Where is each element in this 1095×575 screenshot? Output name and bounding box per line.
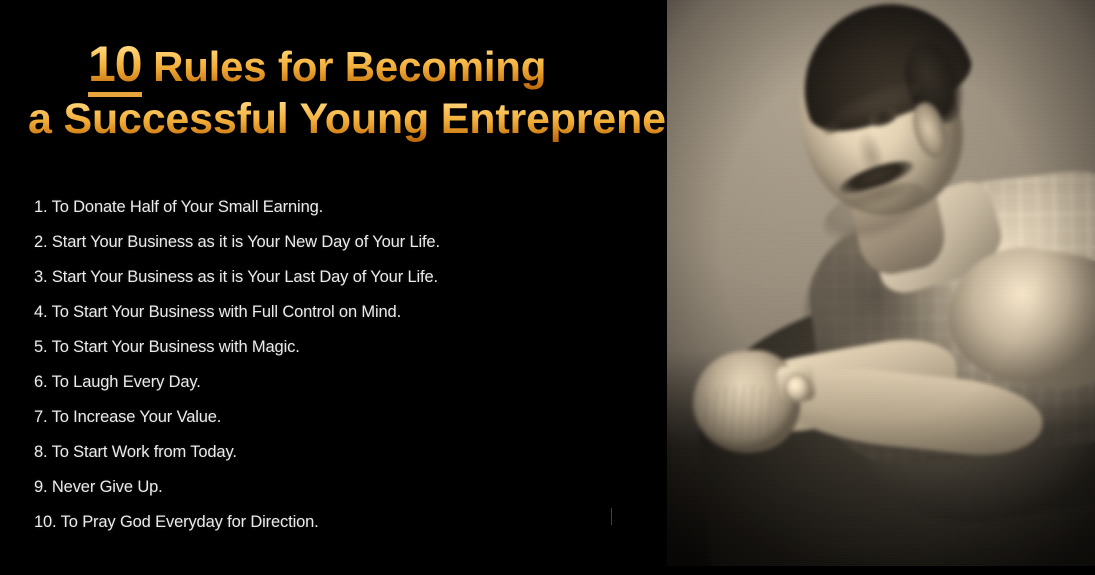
rule-number: 2.	[34, 233, 47, 251]
rule-text: Start Your Business as it is Your New Da…	[52, 233, 440, 251]
rule-text: To Start Your Business with Full Control…	[52, 303, 401, 321]
list-item: 10. To Pray God Everyday for Direction.	[0, 505, 667, 540]
list-item: 4. To Start Your Business with Full Cont…	[0, 295, 667, 330]
list-item: 8. To Start Work from Today.	[0, 435, 667, 470]
list-item: 7. To Increase Your Value.	[0, 400, 667, 435]
rule-text: Start Your Business as it is Your Last D…	[52, 268, 438, 286]
portrait-photo	[667, 0, 1095, 566]
rule-text: Never Give Up.	[52, 478, 163, 496]
rule-number: 5.	[34, 338, 47, 356]
rule-number: 3.	[34, 268, 47, 286]
rule-text: To Start Work from Today.	[52, 443, 237, 461]
rule-number: 6.	[34, 373, 47, 391]
list-item: 9. Never Give Up.	[0, 470, 667, 505]
headline-line-1: 10 Rules for Becoming	[0, 38, 667, 93]
headline-number: 10	[88, 36, 142, 97]
list-item: 1. To Donate Half of Your Small Earning.	[0, 190, 667, 225]
poster: 10 Rules for Becoming a Successful Young…	[0, 0, 1095, 575]
list-item: 6. To Laugh Every Day.	[0, 365, 667, 400]
rule-number: 1.	[34, 198, 47, 216]
headline-line-2: a Successful Young Entrepreneur	[0, 93, 667, 145]
list-item: 2. Start Your Business as it is Your New…	[0, 225, 667, 260]
list-item: 5. To Start Your Business with Magic.	[0, 330, 667, 365]
rule-number: 8.	[34, 443, 47, 461]
rule-text: To Increase Your Value.	[52, 408, 222, 426]
rule-number: 4.	[34, 303, 47, 321]
page-title: 10 Rules for Becoming a Successful Young…	[0, 38, 667, 145]
photo-panel	[667, 0, 1095, 575]
headline-line-1-rest: Rules for Becoming	[142, 43, 547, 90]
list-item: 3. Start Your Business as it is Your Las…	[0, 260, 667, 295]
rule-number: 9.	[34, 478, 47, 496]
scan-artifact	[611, 508, 612, 525]
rule-number: 10.	[34, 513, 57, 531]
text-panel: 10 Rules for Becoming a Successful Young…	[0, 0, 667, 575]
rules-list: 1. To Donate Half of Your Small Earning.…	[0, 190, 667, 540]
rule-text: To Donate Half of Your Small Earning.	[52, 198, 323, 216]
rule-text: To Pray God Everyday for Direction.	[61, 513, 319, 531]
rule-number: 7.	[34, 408, 47, 426]
rule-text: To Laugh Every Day.	[52, 373, 201, 391]
photo-bottom-strip	[667, 566, 1095, 575]
rule-text: To Start Your Business with Magic.	[52, 338, 300, 356]
photo-grain	[667, 0, 1095, 566]
